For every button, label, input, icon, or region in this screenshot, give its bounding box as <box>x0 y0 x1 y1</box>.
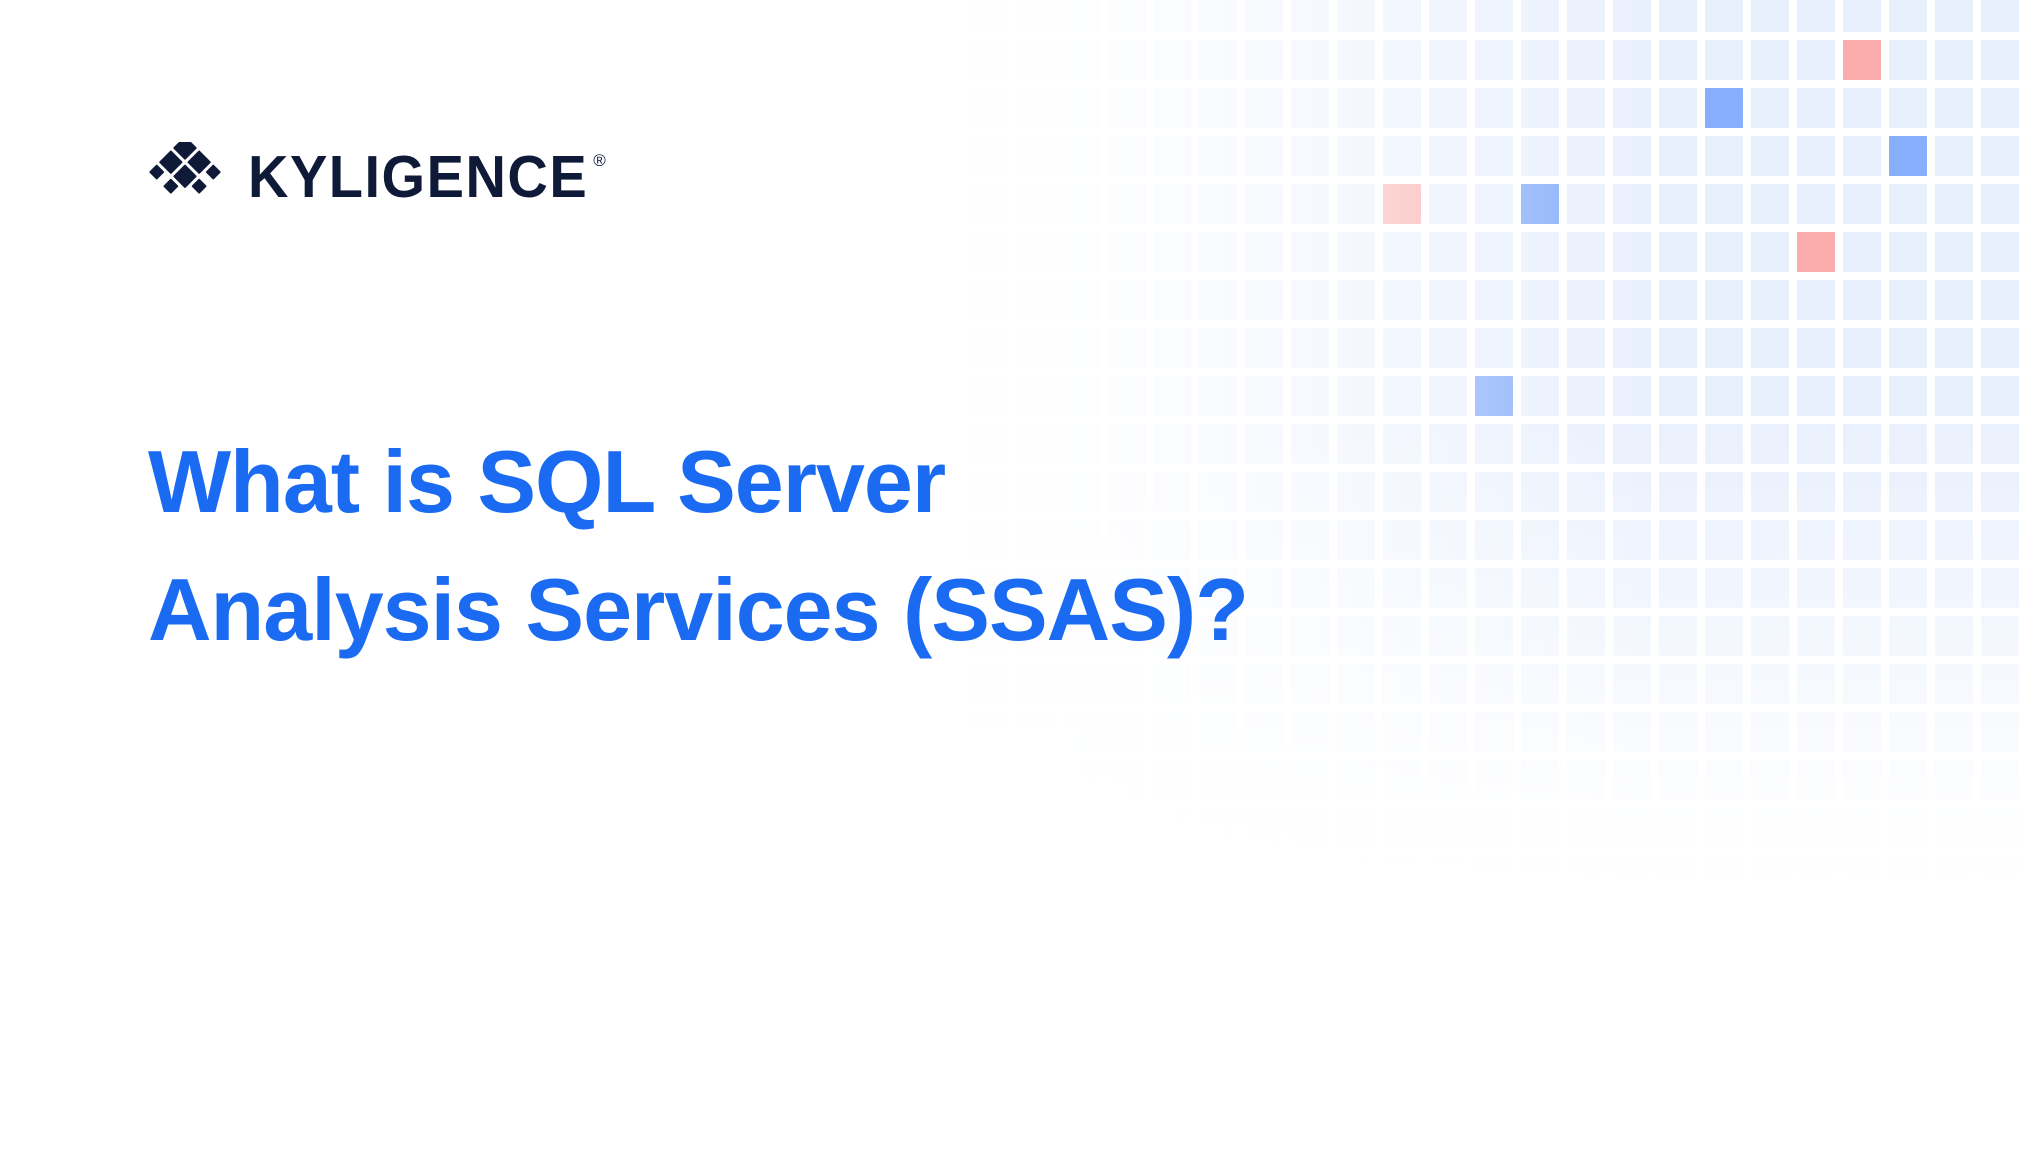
grid-cell <box>1659 472 1697 512</box>
grid-cell <box>1659 616 1697 656</box>
grid-cell <box>1935 664 1973 704</box>
grid-cell <box>1245 136 1283 176</box>
grid-cell <box>1889 808 1927 848</box>
grid-cell <box>1797 280 1835 320</box>
grid-cell <box>1843 616 1881 656</box>
grid-cell <box>1567 664 1605 704</box>
grid-cell <box>1291 808 1329 848</box>
grid-cell <box>1521 616 1559 656</box>
grid-cell <box>1889 856 1927 896</box>
grid-cell <box>1475 376 1513 416</box>
grid-cell <box>1659 88 1697 128</box>
grid-cell <box>1107 0 1145 32</box>
grid-cell <box>1567 760 1605 800</box>
grid-cell <box>1981 88 2019 128</box>
grid-cell <box>1107 232 1145 272</box>
grid-cell <box>969 712 1007 752</box>
grid-cell <box>1245 808 1283 848</box>
grid-cell <box>1475 0 1513 32</box>
grid-cell <box>1383 808 1421 848</box>
grid-cell <box>1245 376 1283 416</box>
grid-cell <box>1659 760 1697 800</box>
grid-cell <box>1475 760 1513 800</box>
grid-cell <box>1107 808 1145 848</box>
page-title-line-2: Analysis Services (SSAS)? <box>148 546 1468 674</box>
grid-cell <box>1245 760 1283 800</box>
grid-cell <box>1475 280 1513 320</box>
grid-cell <box>1981 856 2019 896</box>
grid-cell <box>1383 280 1421 320</box>
grid-cell <box>1797 184 1835 224</box>
grid-cell <box>1935 184 1973 224</box>
grid-cell <box>1843 280 1881 320</box>
grid-cell <box>1613 472 1651 512</box>
grid-cell <box>1337 136 1375 176</box>
grid-cell <box>969 0 1007 32</box>
grid-cell <box>1153 232 1191 272</box>
grid-cell <box>1153 808 1191 848</box>
grid-cell <box>1797 568 1835 608</box>
grid-cell <box>1935 472 1973 512</box>
grid-cell <box>1613 40 1651 80</box>
grid-cell <box>1429 376 1467 416</box>
grid-cell <box>1981 376 2019 416</box>
grid-cell <box>1521 0 1559 32</box>
grid-cell <box>1521 232 1559 272</box>
grid-cell <box>1751 184 1789 224</box>
grid-cell <box>1061 712 1099 752</box>
grid-cell <box>1199 808 1237 848</box>
grid-cell <box>1889 712 1927 752</box>
grid-cell <box>1981 616 2019 656</box>
grid-cell <box>923 88 961 128</box>
grid-cell <box>1843 184 1881 224</box>
grid-cell <box>1015 760 1053 800</box>
grid-cell <box>1291 280 1329 320</box>
grid-cell <box>1199 376 1237 416</box>
grid-cell <box>1475 712 1513 752</box>
grid-cell <box>1889 232 1927 272</box>
grid-cell <box>1521 520 1559 560</box>
grid-cell <box>1613 376 1651 416</box>
grid-cell <box>1705 712 1743 752</box>
grid-cell <box>1705 136 1743 176</box>
grid-cell <box>1291 136 1329 176</box>
grid-cell <box>1613 616 1651 656</box>
grid-cell <box>1429 232 1467 272</box>
grid-cell <box>1797 712 1835 752</box>
grid-cell <box>1613 664 1651 704</box>
grid-cell <box>1061 0 1099 32</box>
grid-cell <box>923 328 961 368</box>
grid-cell <box>1705 232 1743 272</box>
grid-cell <box>1751 88 1789 128</box>
grid-cell <box>1383 88 1421 128</box>
grid-cell <box>1981 40 2019 80</box>
grid-cell <box>1843 88 1881 128</box>
grid-cell <box>1337 808 1375 848</box>
grid-cell <box>1843 808 1881 848</box>
grid-cell <box>1429 40 1467 80</box>
grid-cell <box>1061 376 1099 416</box>
grid-cell <box>1521 88 1559 128</box>
grid-cell <box>1521 760 1559 800</box>
grid-cell <box>1245 280 1283 320</box>
grid-cell <box>1613 760 1651 800</box>
grid-cell <box>1659 184 1697 224</box>
grid-cell <box>1705 664 1743 704</box>
grid-cell <box>1659 808 1697 848</box>
grid-cell <box>1107 184 1145 224</box>
grid-cell <box>1153 328 1191 368</box>
grid-cell <box>1015 280 1053 320</box>
grid-cell <box>1935 328 1973 368</box>
grid-cell <box>1291 328 1329 368</box>
grid-cell <box>1751 760 1789 800</box>
grid-cell <box>1153 40 1191 80</box>
grid-cell <box>1291 0 1329 32</box>
grid-cell <box>1015 328 1053 368</box>
grid-cell <box>1705 0 1743 32</box>
grid-cell <box>1935 40 1973 80</box>
grid-cell <box>1337 232 1375 272</box>
grid-cell <box>1981 232 2019 272</box>
grid-cell <box>1981 712 2019 752</box>
grid-cell <box>1751 232 1789 272</box>
page-title: What is SQL Server Analysis Services (SS… <box>148 418 1468 674</box>
grid-cell <box>1843 568 1881 608</box>
grid-cell <box>1061 88 1099 128</box>
grid-cell <box>1383 376 1421 416</box>
grid-cell <box>1383 136 1421 176</box>
grid-cell <box>1705 88 1743 128</box>
grid-cell <box>1153 376 1191 416</box>
grid-cell <box>1521 664 1559 704</box>
grid-cell <box>1153 856 1191 896</box>
grid-cell <box>1291 376 1329 416</box>
grid-cell <box>1613 280 1651 320</box>
grid-cell <box>1843 376 1881 416</box>
grid-cell <box>1659 328 1697 368</box>
grid-cell <box>1613 712 1651 752</box>
grid-cell <box>923 760 961 800</box>
grid-cell <box>1797 40 1835 80</box>
grid-cell <box>1613 184 1651 224</box>
grid-cell <box>1245 88 1283 128</box>
grid-cell <box>1015 376 1053 416</box>
grid-cell <box>1705 808 1743 848</box>
grid-cell <box>1797 232 1835 272</box>
grid-cell <box>1981 424 2019 464</box>
grid-cell <box>1521 808 1559 848</box>
grid-cell <box>1245 0 1283 32</box>
grid-cell <box>1567 376 1605 416</box>
grid-cell <box>1475 136 1513 176</box>
grid-cell <box>1061 856 1099 896</box>
grid-cell <box>1429 808 1467 848</box>
grid-cell <box>1705 760 1743 800</box>
grid-cell <box>969 856 1007 896</box>
grid-cell <box>1659 712 1697 752</box>
grid-cell <box>1199 0 1237 32</box>
grid-cell <box>1613 424 1651 464</box>
grid-cell <box>1935 0 1973 32</box>
grid-cell <box>1291 40 1329 80</box>
grid-cell <box>1521 568 1559 608</box>
grid-cell <box>1889 760 1927 800</box>
grid-cell <box>1429 280 1467 320</box>
grid-cell <box>1521 376 1559 416</box>
grid-cell <box>1705 568 1743 608</box>
grid-cell <box>1613 0 1651 32</box>
grid-cell <box>1797 472 1835 512</box>
grid-cell <box>1659 376 1697 416</box>
grid-cell <box>1981 136 2019 176</box>
grid-cell <box>923 856 961 896</box>
grid-cell <box>1705 280 1743 320</box>
grid-cell <box>1889 472 1927 512</box>
grid-cell <box>1521 184 1559 224</box>
grid-cell <box>923 280 961 320</box>
grid-cell <box>1475 520 1513 560</box>
grid-cell <box>1889 0 1927 32</box>
grid-cell <box>1291 760 1329 800</box>
grid-cell <box>1751 0 1789 32</box>
grid-cell <box>1751 856 1789 896</box>
grid-cell <box>1843 40 1881 80</box>
grid-cell <box>1935 808 1973 848</box>
grid-cell <box>1935 520 1973 560</box>
grid-cell <box>1659 232 1697 272</box>
grid-cell <box>923 712 961 752</box>
grid-cell <box>1935 376 1973 416</box>
grid-cell <box>1153 0 1191 32</box>
grid-cell <box>1613 88 1651 128</box>
grid-cell <box>1061 328 1099 368</box>
page-title-line-1: What is SQL Server <box>148 418 1468 546</box>
grid-cell <box>1659 280 1697 320</box>
grid-cell <box>1843 712 1881 752</box>
registered-trademark-symbol: ® <box>593 152 606 169</box>
grid-cell <box>1475 856 1513 896</box>
grid-cell <box>1521 280 1559 320</box>
grid-cell <box>1475 40 1513 80</box>
grid-cell <box>969 232 1007 272</box>
grid-cell <box>1153 760 1191 800</box>
grid-cell <box>1843 472 1881 512</box>
grid-cell <box>969 136 1007 176</box>
grid-cell <box>1797 808 1835 848</box>
grid-cell <box>1153 280 1191 320</box>
grid-cell <box>1659 520 1697 560</box>
grid-cell <box>1199 712 1237 752</box>
grid-cell <box>1567 88 1605 128</box>
grid-cell <box>1751 616 1789 656</box>
grid-cell <box>1107 88 1145 128</box>
grid-cell <box>1153 712 1191 752</box>
grid-cell <box>923 232 961 272</box>
grid-cell <box>1567 520 1605 560</box>
grid-cell <box>1245 328 1283 368</box>
brand-logo: KYLIGENCE ® <box>148 142 606 212</box>
grid-cell <box>1567 424 1605 464</box>
grid-cell <box>1199 856 1237 896</box>
grid-cell <box>1429 136 1467 176</box>
grid-cell <box>969 88 1007 128</box>
grid-cell <box>1935 760 1973 800</box>
grid-cell <box>1705 424 1743 464</box>
grid-cell <box>1337 88 1375 128</box>
grid-cell <box>1889 568 1927 608</box>
grid-cell <box>1061 280 1099 320</box>
grid-cell <box>1015 136 1053 176</box>
grid-cell <box>1521 328 1559 368</box>
grid-cell <box>1751 328 1789 368</box>
grid-cell <box>1981 472 2019 512</box>
grid-cell <box>1567 472 1605 512</box>
grid-cell <box>1981 808 2019 848</box>
grid-cell <box>1153 88 1191 128</box>
grid-cell <box>1751 280 1789 320</box>
grid-cell <box>1061 184 1099 224</box>
grid-cell <box>923 184 961 224</box>
grid-cell <box>1659 40 1697 80</box>
grid-cell <box>1705 184 1743 224</box>
grid-cell <box>1889 328 1927 368</box>
grid-cell <box>1429 328 1467 368</box>
grid-cell <box>1935 616 1973 656</box>
grid-cell <box>1383 0 1421 32</box>
grid-cell <box>1061 136 1099 176</box>
grid-cell <box>1705 856 1743 896</box>
grid-cell <box>1705 472 1743 512</box>
grid-cell <box>1337 328 1375 368</box>
grid-cell <box>1015 40 1053 80</box>
grid-cell <box>969 184 1007 224</box>
grid-cell <box>1981 328 2019 368</box>
grid-cell <box>1889 184 1927 224</box>
grid-cell <box>1705 616 1743 656</box>
grid-cell <box>1383 328 1421 368</box>
grid-cell <box>1935 88 1973 128</box>
grid-cell <box>1475 232 1513 272</box>
grid-cell <box>1659 856 1697 896</box>
grid-cell <box>1475 808 1513 848</box>
grid-cell <box>1659 664 1697 704</box>
grid-cell <box>1337 184 1375 224</box>
grid-cell <box>1107 136 1145 176</box>
grid-cell <box>969 376 1007 416</box>
grid-cell <box>1291 232 1329 272</box>
grid-cell <box>1475 664 1513 704</box>
grid-cell <box>1797 760 1835 800</box>
grid-cell <box>1935 232 1973 272</box>
grid-cell <box>1889 616 1927 656</box>
grid-cell <box>1061 40 1099 80</box>
grid-cell <box>1889 664 1927 704</box>
grid-cell <box>1107 760 1145 800</box>
grid-cell <box>1337 280 1375 320</box>
grid-cell <box>1475 616 1513 656</box>
grid-cell <box>1245 184 1283 224</box>
grid-cell <box>1659 568 1697 608</box>
grid-cell <box>1889 376 1927 416</box>
grid-cell <box>1981 184 2019 224</box>
grid-cell <box>1153 184 1191 224</box>
grid-cell <box>1751 40 1789 80</box>
grid-cell <box>1015 712 1053 752</box>
grid-cell <box>1935 280 1973 320</box>
grid-cell <box>1199 40 1237 80</box>
grid-cell <box>1291 712 1329 752</box>
grid-cell <box>1843 328 1881 368</box>
grid-cell <box>1843 664 1881 704</box>
grid-cell <box>1383 856 1421 896</box>
grid-cell <box>1797 616 1835 656</box>
grid-cell <box>1245 40 1283 80</box>
grid-cell <box>1935 712 1973 752</box>
grid-cell <box>1843 232 1881 272</box>
grid-cell <box>1245 712 1283 752</box>
grid-cell <box>1981 568 2019 608</box>
grid-cell <box>969 40 1007 80</box>
grid-cell <box>1797 136 1835 176</box>
grid-cell <box>923 376 961 416</box>
grid-cell <box>1889 424 1927 464</box>
grid-cell <box>1843 856 1881 896</box>
grid-cell <box>923 136 961 176</box>
grid-cell <box>1475 424 1513 464</box>
grid-cell <box>1935 856 1973 896</box>
grid-cell <box>1107 856 1145 896</box>
grid-cell <box>1015 232 1053 272</box>
grid-cell <box>1751 376 1789 416</box>
grid-cell <box>1429 88 1467 128</box>
grid-cell <box>1751 472 1789 512</box>
grid-cell <box>1383 40 1421 80</box>
grid-cell <box>1751 568 1789 608</box>
grid-cell <box>1337 40 1375 80</box>
grid-cell <box>1613 808 1651 848</box>
grid-cell <box>1843 0 1881 32</box>
grid-cell <box>1567 280 1605 320</box>
grid-cell <box>1199 232 1237 272</box>
grid-cell <box>1383 232 1421 272</box>
grid-cell <box>1751 136 1789 176</box>
grid-cell <box>1751 712 1789 752</box>
grid-cell <box>1475 568 1513 608</box>
grid-cell <box>1797 0 1835 32</box>
grid-cell <box>1475 88 1513 128</box>
slide-canvas: KYLIGENCE ® What is SQL Server Analysis … <box>0 0 2019 1149</box>
grid-cell <box>1567 808 1605 848</box>
grid-cell <box>1061 232 1099 272</box>
grid-cell <box>1015 88 1053 128</box>
grid-cell <box>1797 856 1835 896</box>
grid-cell <box>1705 328 1743 368</box>
grid-cell <box>1475 184 1513 224</box>
grid-cell <box>1015 184 1053 224</box>
grid-cell <box>1291 88 1329 128</box>
grid-cell <box>1337 712 1375 752</box>
grid-cell <box>1567 0 1605 32</box>
grid-cell <box>923 808 961 848</box>
brand-wordmark-wrap: KYLIGENCE ® <box>248 149 606 205</box>
grid-cell <box>1521 856 1559 896</box>
grid-cell <box>1521 712 1559 752</box>
grid-cell <box>1705 40 1743 80</box>
grid-cell <box>1199 136 1237 176</box>
